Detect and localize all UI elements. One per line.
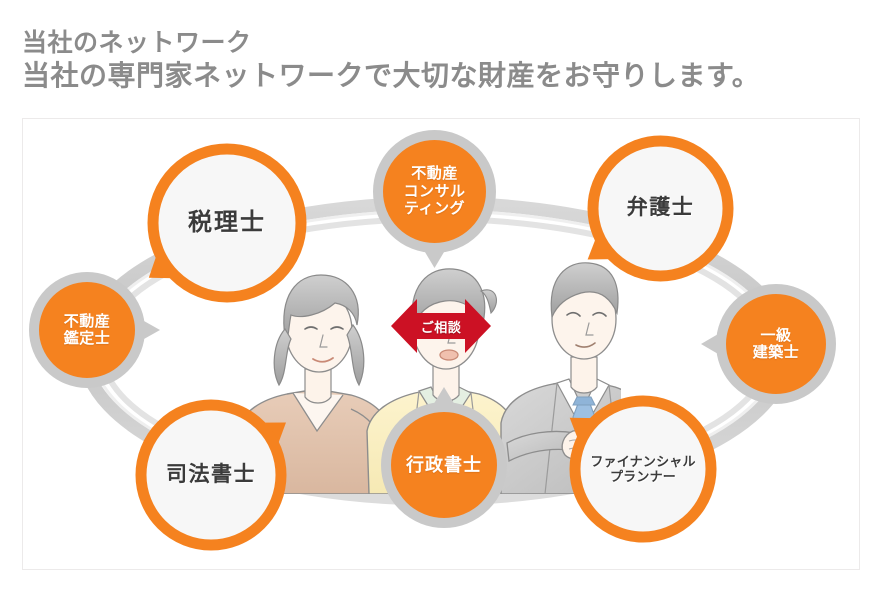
node-circle — [593, 141, 728, 276]
node-fudosan-consulting[interactable]: 不動産コンサルティング — [356, 118, 513, 270]
node-circle — [386, 407, 502, 523]
node-financial-planner[interactable]: ファイナンシャルプランナー — [553, 379, 733, 559]
page-subtitle: 当社の専門家ネットワークで大切な財産をお守りします。 — [22, 59, 862, 93]
node-circle — [153, 149, 301, 297]
diagram-stage: ご相談 税理士不動産コンサルティング弁護士不動産鑑定士一級建築士司法書士行政書士… — [22, 118, 860, 570]
page-title: 当社のネットワーク — [22, 28, 862, 59]
node-circle — [378, 135, 491, 248]
node-circle — [34, 277, 140, 383]
node-gyoseishoshi[interactable]: 行政書士 — [364, 385, 524, 545]
node-circle — [575, 401, 711, 537]
node-shihoshoshi[interactable]: 司法書士 — [119, 383, 303, 567]
page-header: 当社のネットワーク 当社の専門家ネットワークで大切な財産をお守りします。 — [22, 28, 862, 93]
network-diagram-page: 当社のネットワーク 当社の専門家ネットワークで大切な財産をお守りします。 — [0, 0, 876, 595]
double-headed-arrow-shape — [391, 299, 491, 353]
node-circle — [721, 289, 831, 399]
consultation-arrow: ご相談 — [391, 297, 491, 355]
node-circle — [141, 405, 281, 545]
